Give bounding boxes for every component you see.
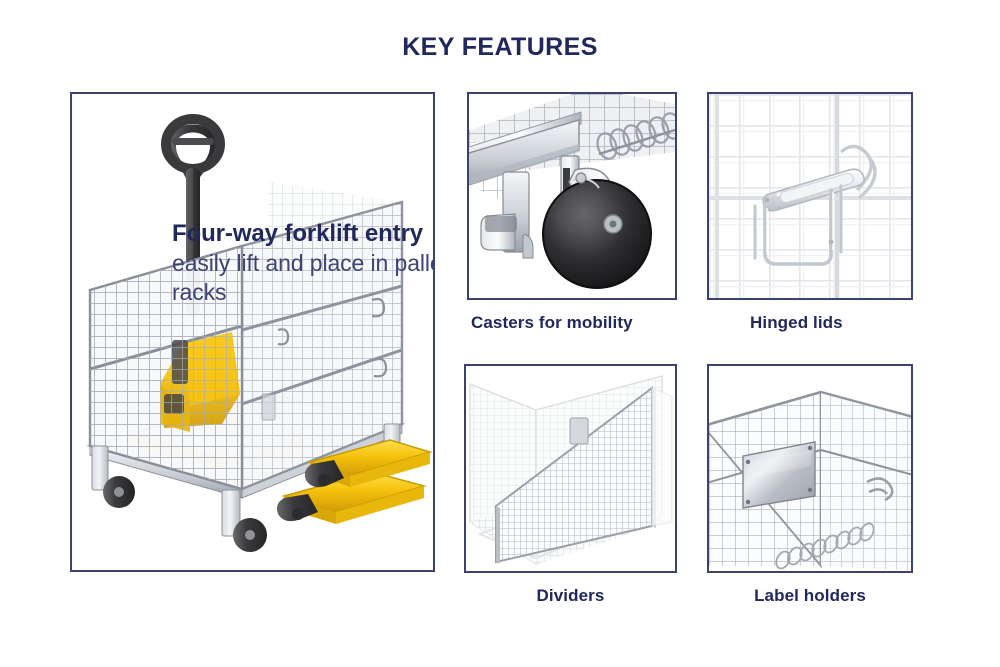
divider-panel-illustration	[466, 366, 675, 571]
page-title: KEY FEATURES	[0, 33, 1000, 62]
rivet	[829, 240, 834, 245]
caption-hinged-lids: Hinged lids	[750, 313, 843, 333]
wire-mesh-side-wall	[817, 386, 911, 571]
wire-mesh-container-on-pallet-jack-illustration	[72, 94, 433, 570]
caption-label-holders: Label holders	[707, 586, 913, 606]
forklift-headline-block: Four-way forklift entry easily lift and …	[172, 220, 435, 306]
forklift-subline: easily lift and place in pallet racks	[172, 249, 435, 306]
caption-dividers: Dividers	[464, 586, 677, 606]
forklift-headline: Four-way forklift entry	[172, 220, 435, 248]
panel-four-way-forklift-entry: Four-way forklift entry easily lift and …	[70, 92, 435, 572]
hinge-latch-illustration	[709, 94, 911, 298]
panel-dividers	[464, 364, 677, 573]
container-right-sliver	[652, 388, 672, 526]
rivet	[765, 198, 770, 203]
label-holder-illustration	[709, 366, 911, 571]
swivel-caster-illustration	[469, 94, 675, 298]
panel-casters-for-mobility	[467, 92, 677, 300]
panel-label-holders	[707, 364, 913, 573]
caption-casters-for-mobility: Casters for mobility	[471, 313, 633, 333]
panel-hinged-lids	[707, 92, 913, 300]
